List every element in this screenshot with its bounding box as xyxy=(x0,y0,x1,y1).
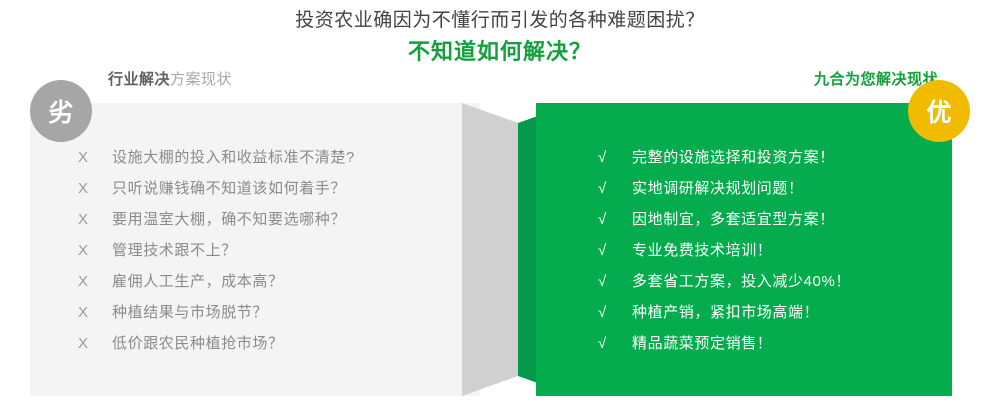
cross-icon: X xyxy=(78,204,112,235)
list-item-label: 实地调研解决规划问题！ xyxy=(632,173,804,204)
list-item: X要用温室大棚，确不知要选哪种？ xyxy=(78,204,458,235)
check-icon: √ xyxy=(598,142,632,173)
check-icon: √ xyxy=(598,235,632,266)
badge-inferior: 劣 xyxy=(30,80,92,142)
list-item: X雇佣人工生产，成本高？ xyxy=(78,266,458,297)
list-item-label: 种植结果与市场脱节？ xyxy=(112,297,268,328)
badge-superior: 优 xyxy=(908,80,970,142)
headline: 投资农业确因为不懂行而引发的各种难题困扰？ 不知道如何解决？ xyxy=(0,8,1000,66)
cross-icon: X xyxy=(78,328,112,359)
list-item-label: 低价跟农民种植抢市场？ xyxy=(112,328,284,359)
list-item: X只听说赚钱确不知道该如何着手？ xyxy=(78,173,458,204)
list-item: √实地调研解决规划问题！ xyxy=(598,173,948,204)
list-item: √完整的设施选择和投资方案！ xyxy=(598,142,948,173)
list-item: √精品蔬菜预定销售！ xyxy=(598,328,948,359)
list-item-label: 专业免费技术培训！ xyxy=(632,235,772,266)
list-item: √多套省工方案，投入减少40%！ xyxy=(598,266,948,297)
list-item-label: 只听说赚钱确不知道该如何着手？ xyxy=(112,173,346,204)
list-item-label: 完整的设施选择和投资方案！ xyxy=(632,142,835,173)
list-item-label: 多套省工方案，投入减少40%！ xyxy=(632,266,851,297)
list-item: X种植结果与市场脱节？ xyxy=(78,297,458,328)
problem-list: X设施大棚的投入和收益标准不清楚? X只听说赚钱确不知道该如何着手？ X要用温室… xyxy=(78,142,458,359)
list-item-label: 因地制宜，多套适宜型方案！ xyxy=(632,204,835,235)
cross-icon: X xyxy=(78,142,112,173)
list-item: √因地制宜，多套适宜型方案！ xyxy=(598,204,948,235)
left-panel-title-rest: 方案现状 xyxy=(170,71,232,88)
list-item-label: 管理技术跟不上？ xyxy=(112,235,237,266)
list-item: √种植产销，紧扣市场高端！ xyxy=(598,297,948,328)
check-icon: √ xyxy=(598,204,632,235)
list-item-label: 雇佣人工生产，成本高？ xyxy=(112,266,284,297)
solution-list: √完整的设施选择和投资方案！ √实地调研解决规划问题！ √因地制宜，多套适宜型方… xyxy=(598,142,948,359)
list-item: X管理技术跟不上？ xyxy=(78,235,458,266)
left-panel-title: 行业解决方案现状 xyxy=(108,70,232,90)
check-icon: √ xyxy=(598,328,632,359)
list-item: X低价跟农民种植抢市场？ xyxy=(78,328,458,359)
check-icon: √ xyxy=(598,297,632,328)
cross-icon: X xyxy=(78,173,112,204)
fold-gray-wing xyxy=(462,103,518,396)
list-item-label: 要用温室大棚，确不知要选哪种？ xyxy=(112,204,346,235)
list-item: X设施大棚的投入和收益标准不清楚? xyxy=(78,142,458,173)
comparison-banner: 投资农业确因为不懂行而引发的各种难题困扰？ 不知道如何解决？ 行业解决方案现状 … xyxy=(0,0,1000,416)
check-icon: √ xyxy=(598,173,632,204)
list-item-label: 设施大棚的投入和收益标准不清楚? xyxy=(112,142,355,173)
headline-line2: 不知道如何解决？ xyxy=(0,38,1000,66)
list-item-label: 种植产销，紧扣市场高端！ xyxy=(632,297,819,328)
left-panel-title-strong: 行业解决 xyxy=(108,71,170,88)
list-item: √专业免费技术培训！ xyxy=(598,235,948,266)
cross-icon: X xyxy=(78,297,112,328)
cross-icon: X xyxy=(78,235,112,266)
cross-icon: X xyxy=(78,266,112,297)
headline-line1: 投资农业确因为不懂行而引发的各种难题困扰？ xyxy=(0,8,1000,34)
check-icon: √ xyxy=(598,266,632,297)
list-item-label: 精品蔬菜预定销售！ xyxy=(632,328,772,359)
